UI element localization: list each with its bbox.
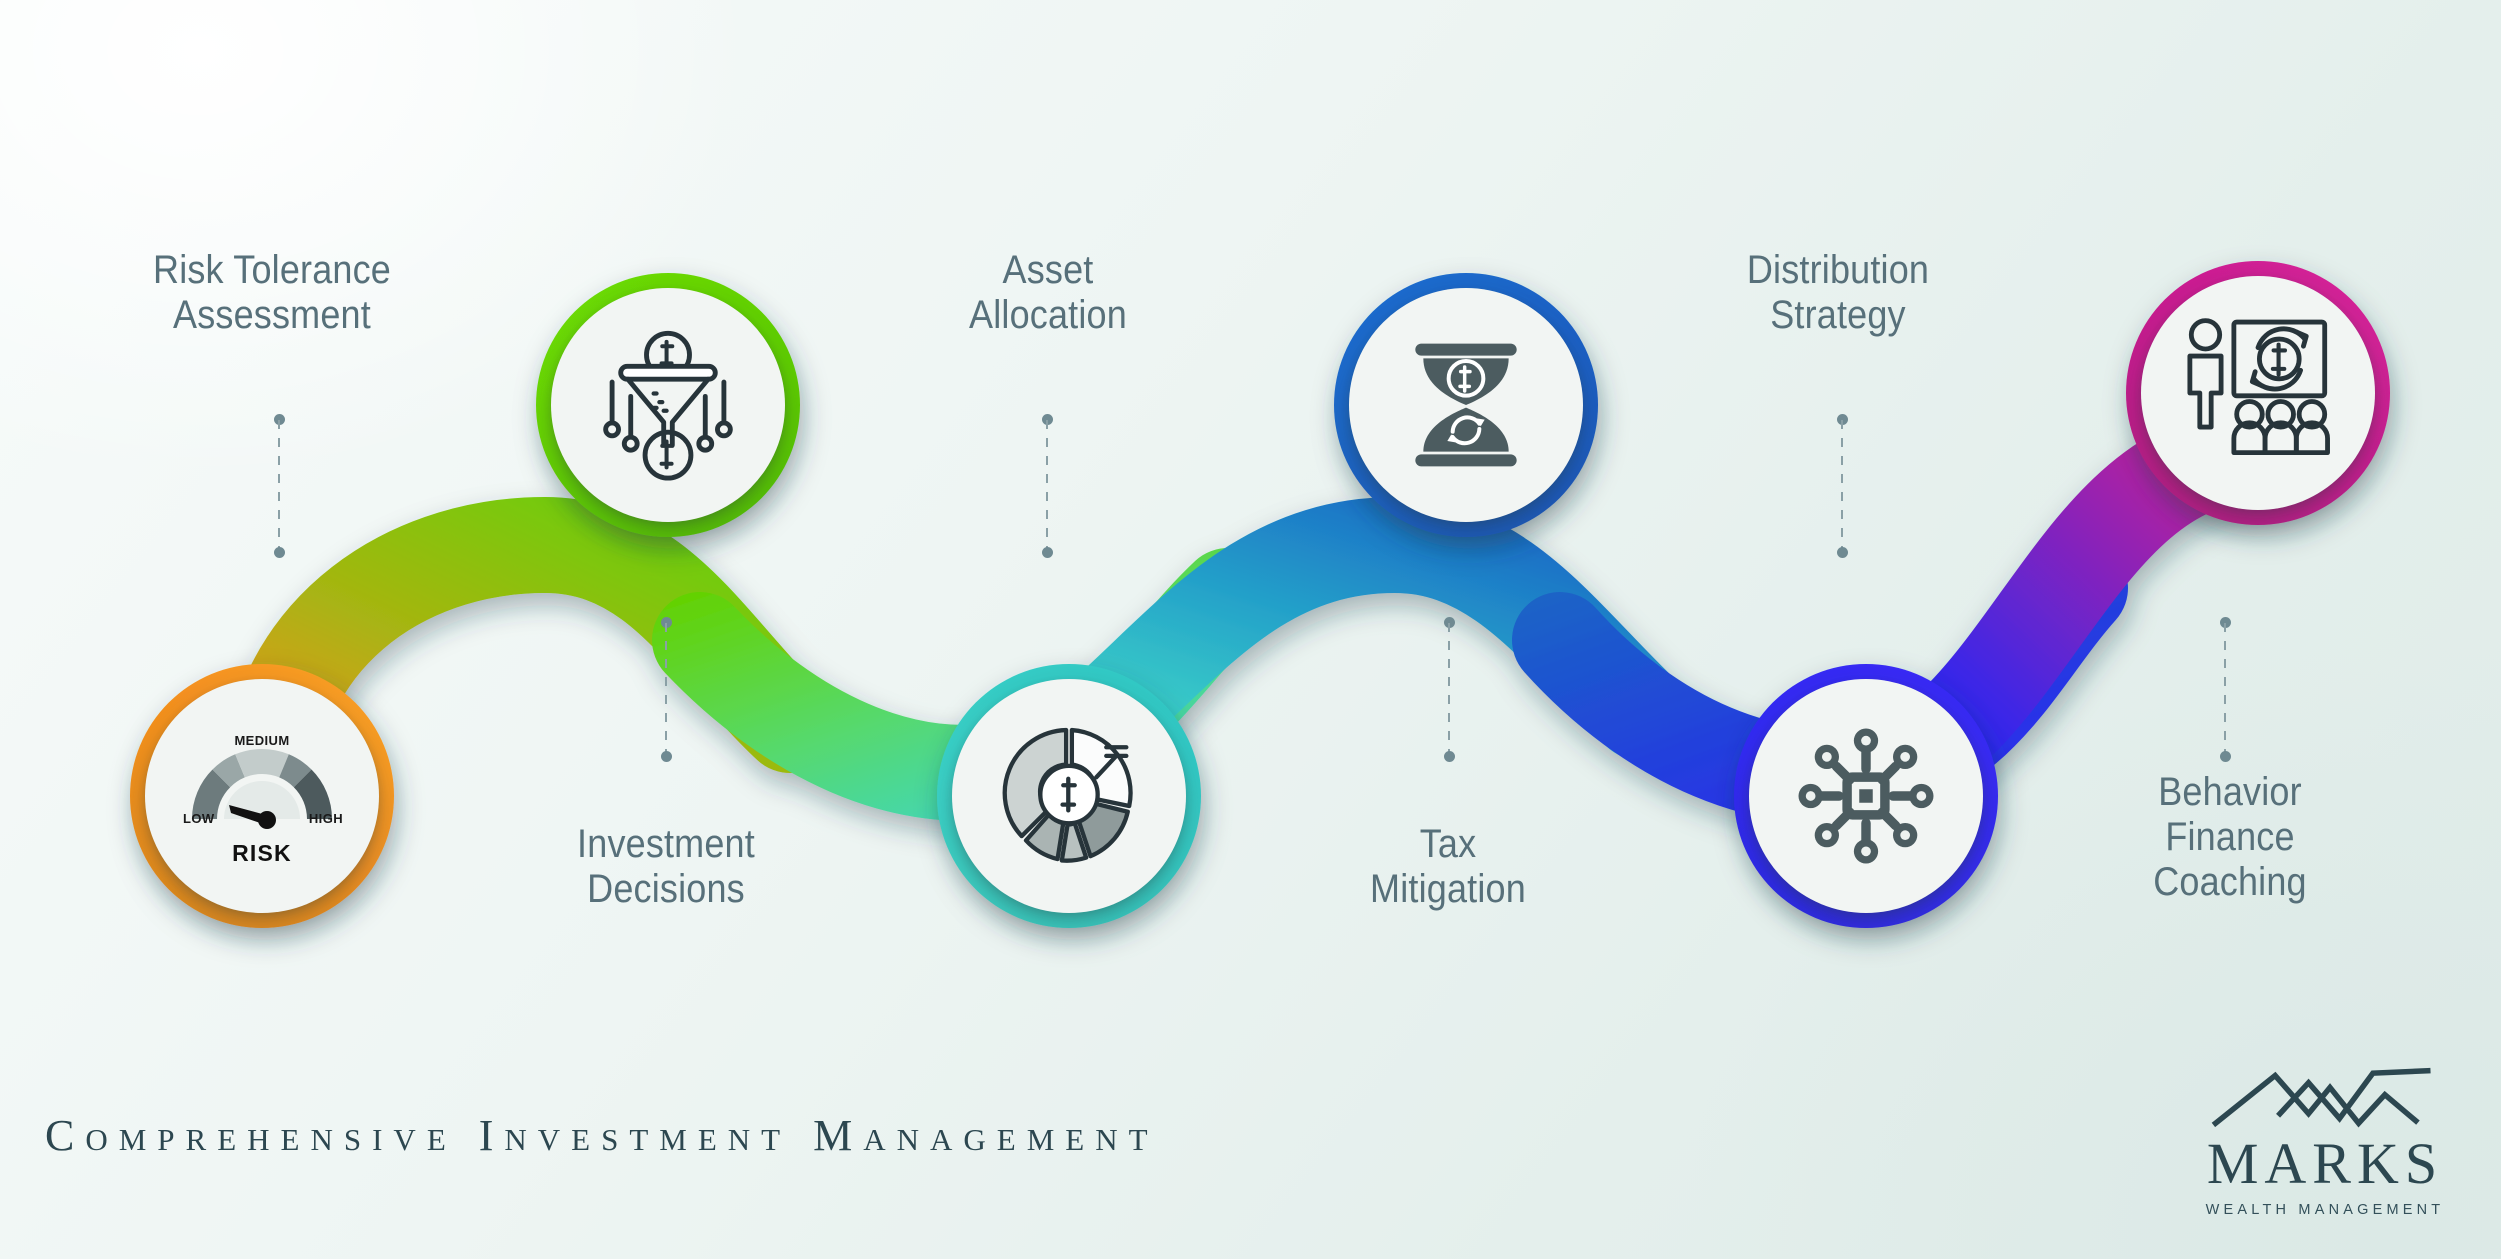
connector-dot-bottom — [2220, 751, 2231, 762]
brand-wordmark: MARKS — [2175, 1135, 2475, 1193]
connector-dash — [278, 420, 280, 552]
step-node-investment-decisions[interactable] — [551, 288, 785, 522]
connector-dash — [1841, 420, 1843, 552]
risk-gauge-medium-label: MEDIUM — [234, 733, 289, 748]
infographic-canvas: MEDIUM LOW HIGH RISK — [0, 0, 2501, 1259]
network-hub-icon — [1785, 715, 1947, 877]
step-label-risk-tolerance-assessment: Risk Tolerance Assessment — [121, 248, 423, 338]
brand-logo: MARKS WEALTH MANAGEMENT — [2175, 1066, 2475, 1218]
step-node-asset-allocation[interactable] — [952, 679, 1186, 913]
brand-tagline: WEALTH MANAGEMENT — [2175, 1202, 2475, 1218]
connector-dash — [2224, 623, 2226, 756]
risk-gauge-low-label: LOW — [183, 811, 215, 826]
step-label-investment-decisions: Investment Decisions — [515, 822, 817, 912]
connector-dot-bottom — [1837, 547, 1848, 558]
risk-gauge-title: RISK — [232, 840, 292, 866]
risk-gauge-high-label: HIGH — [309, 811, 343, 826]
connector-dash — [1046, 420, 1048, 552]
process-ribbon — [0, 0, 2501, 1259]
connector-dot-bottom — [1042, 547, 1053, 558]
step-node-distribution-strategy[interactable] — [1749, 679, 1983, 913]
connector-asset-allocation — [1040, 414, 1054, 558]
connector-dash — [665, 623, 667, 756]
mountain-chart-icon — [2206, 1066, 2444, 1128]
step-node-risk-tolerance-assessment[interactable]: MEDIUM LOW HIGH RISK — [145, 679, 379, 913]
connector-dot-bottom — [661, 751, 672, 762]
connector-dot-bottom — [1444, 751, 1455, 762]
connector-risk-tolerance-assessment — [272, 414, 286, 558]
connector-dot-bottom — [274, 547, 285, 558]
page-title: Comprehensive Investment Management — [45, 1110, 1159, 1161]
connector-behavior-finance-coaching — [2218, 617, 2232, 762]
connector-dash — [1448, 623, 1450, 756]
connector-investment-decisions — [659, 617, 673, 762]
risk-gauge-icon: MEDIUM LOW HIGH RISK — [167, 701, 357, 891]
connector-tax-mitigation — [1442, 617, 1456, 762]
step-label-behavior-finance-coaching: Behavior Finance Coaching — [2079, 770, 2381, 906]
step-label-asset-allocation: Asset Allocation — [897, 248, 1199, 338]
funnel-money-icon — [582, 319, 754, 491]
coaching-presentation-icon — [2170, 305, 2346, 481]
step-label-tax-mitigation: Tax Mitigation — [1297, 822, 1599, 912]
step-node-behavior-finance-coaching[interactable] — [2141, 276, 2375, 510]
step-label-distribution-strategy: Distribution Strategy — [1687, 248, 1989, 338]
pie-chart-money-icon — [983, 710, 1155, 882]
step-node-tax-mitigation[interactable] — [1349, 288, 1583, 522]
connector-distribution-strategy — [1835, 414, 1849, 558]
hourglass-money-icon — [1386, 325, 1546, 485]
